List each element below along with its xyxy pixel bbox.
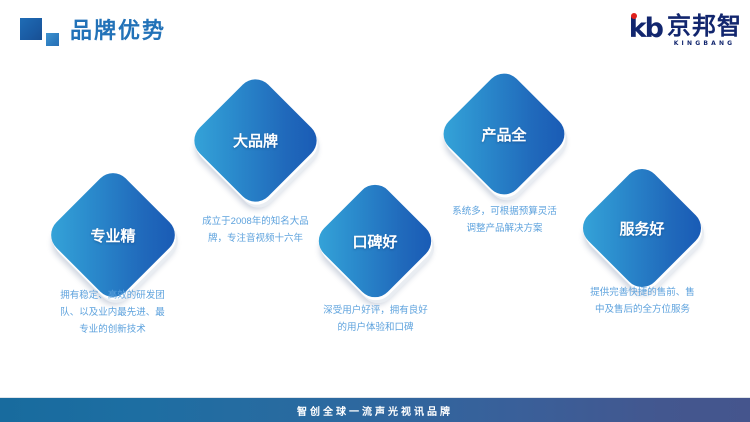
diamond-label-3: 口碑好 [330,196,420,286]
brand-logo: kb 京邦智 KINGBANG [629,14,742,48]
logo-mark-kb: kb [629,14,662,44]
advantage-description-5: 提供完善快捷的售前、售 中及售后的全方位服务 [550,284,735,318]
footer-slogan: 智创全球一流声光视讯品牌 [297,403,453,418]
decor-square-large-icon [18,16,44,42]
logo-brand-en: KINGBANG [667,39,742,48]
advantage-description-1: 拥有稳定、高效的研发团 队、以及业内最先进、最 专业的创新技术 [20,287,205,338]
diamond-shape-1[interactable]: 专业精 [64,186,162,284]
diamond-shape-2[interactable]: 大品牌 [207,92,304,189]
logo-dot-icon [631,13,637,19]
diamond-label-4: 产品全 [456,86,552,182]
advantage-description-4: 系统多，可根据预算灵活 调整产品解决方案 [412,203,597,237]
advantage-description-3: 深受用户好评，拥有良好 的用户体验和口碑 [283,302,468,336]
page-footer: 智创全球一流声光视讯品牌 [0,398,750,422]
diamond-label-2: 大品牌 [207,92,304,189]
diamond-shape-5[interactable]: 服务好 [595,181,689,275]
page-title: 品牌优势 [70,14,166,48]
diamond-shape-3[interactable]: 口碑好 [330,196,420,286]
logo-wordmark: 京邦智 KINGBANG [667,14,742,48]
diamond-shape-4[interactable]: 产品全 [456,86,552,182]
diamond-label-5: 服务好 [595,181,689,275]
logo-brand-cn: 京邦智 [667,14,742,39]
decor-square-small-icon [44,31,61,48]
title-decoration [18,16,64,48]
diamond-label-1: 专业精 [64,186,162,284]
page-header: 品牌优势 kb 京邦智 KINGBANG [0,0,750,62]
